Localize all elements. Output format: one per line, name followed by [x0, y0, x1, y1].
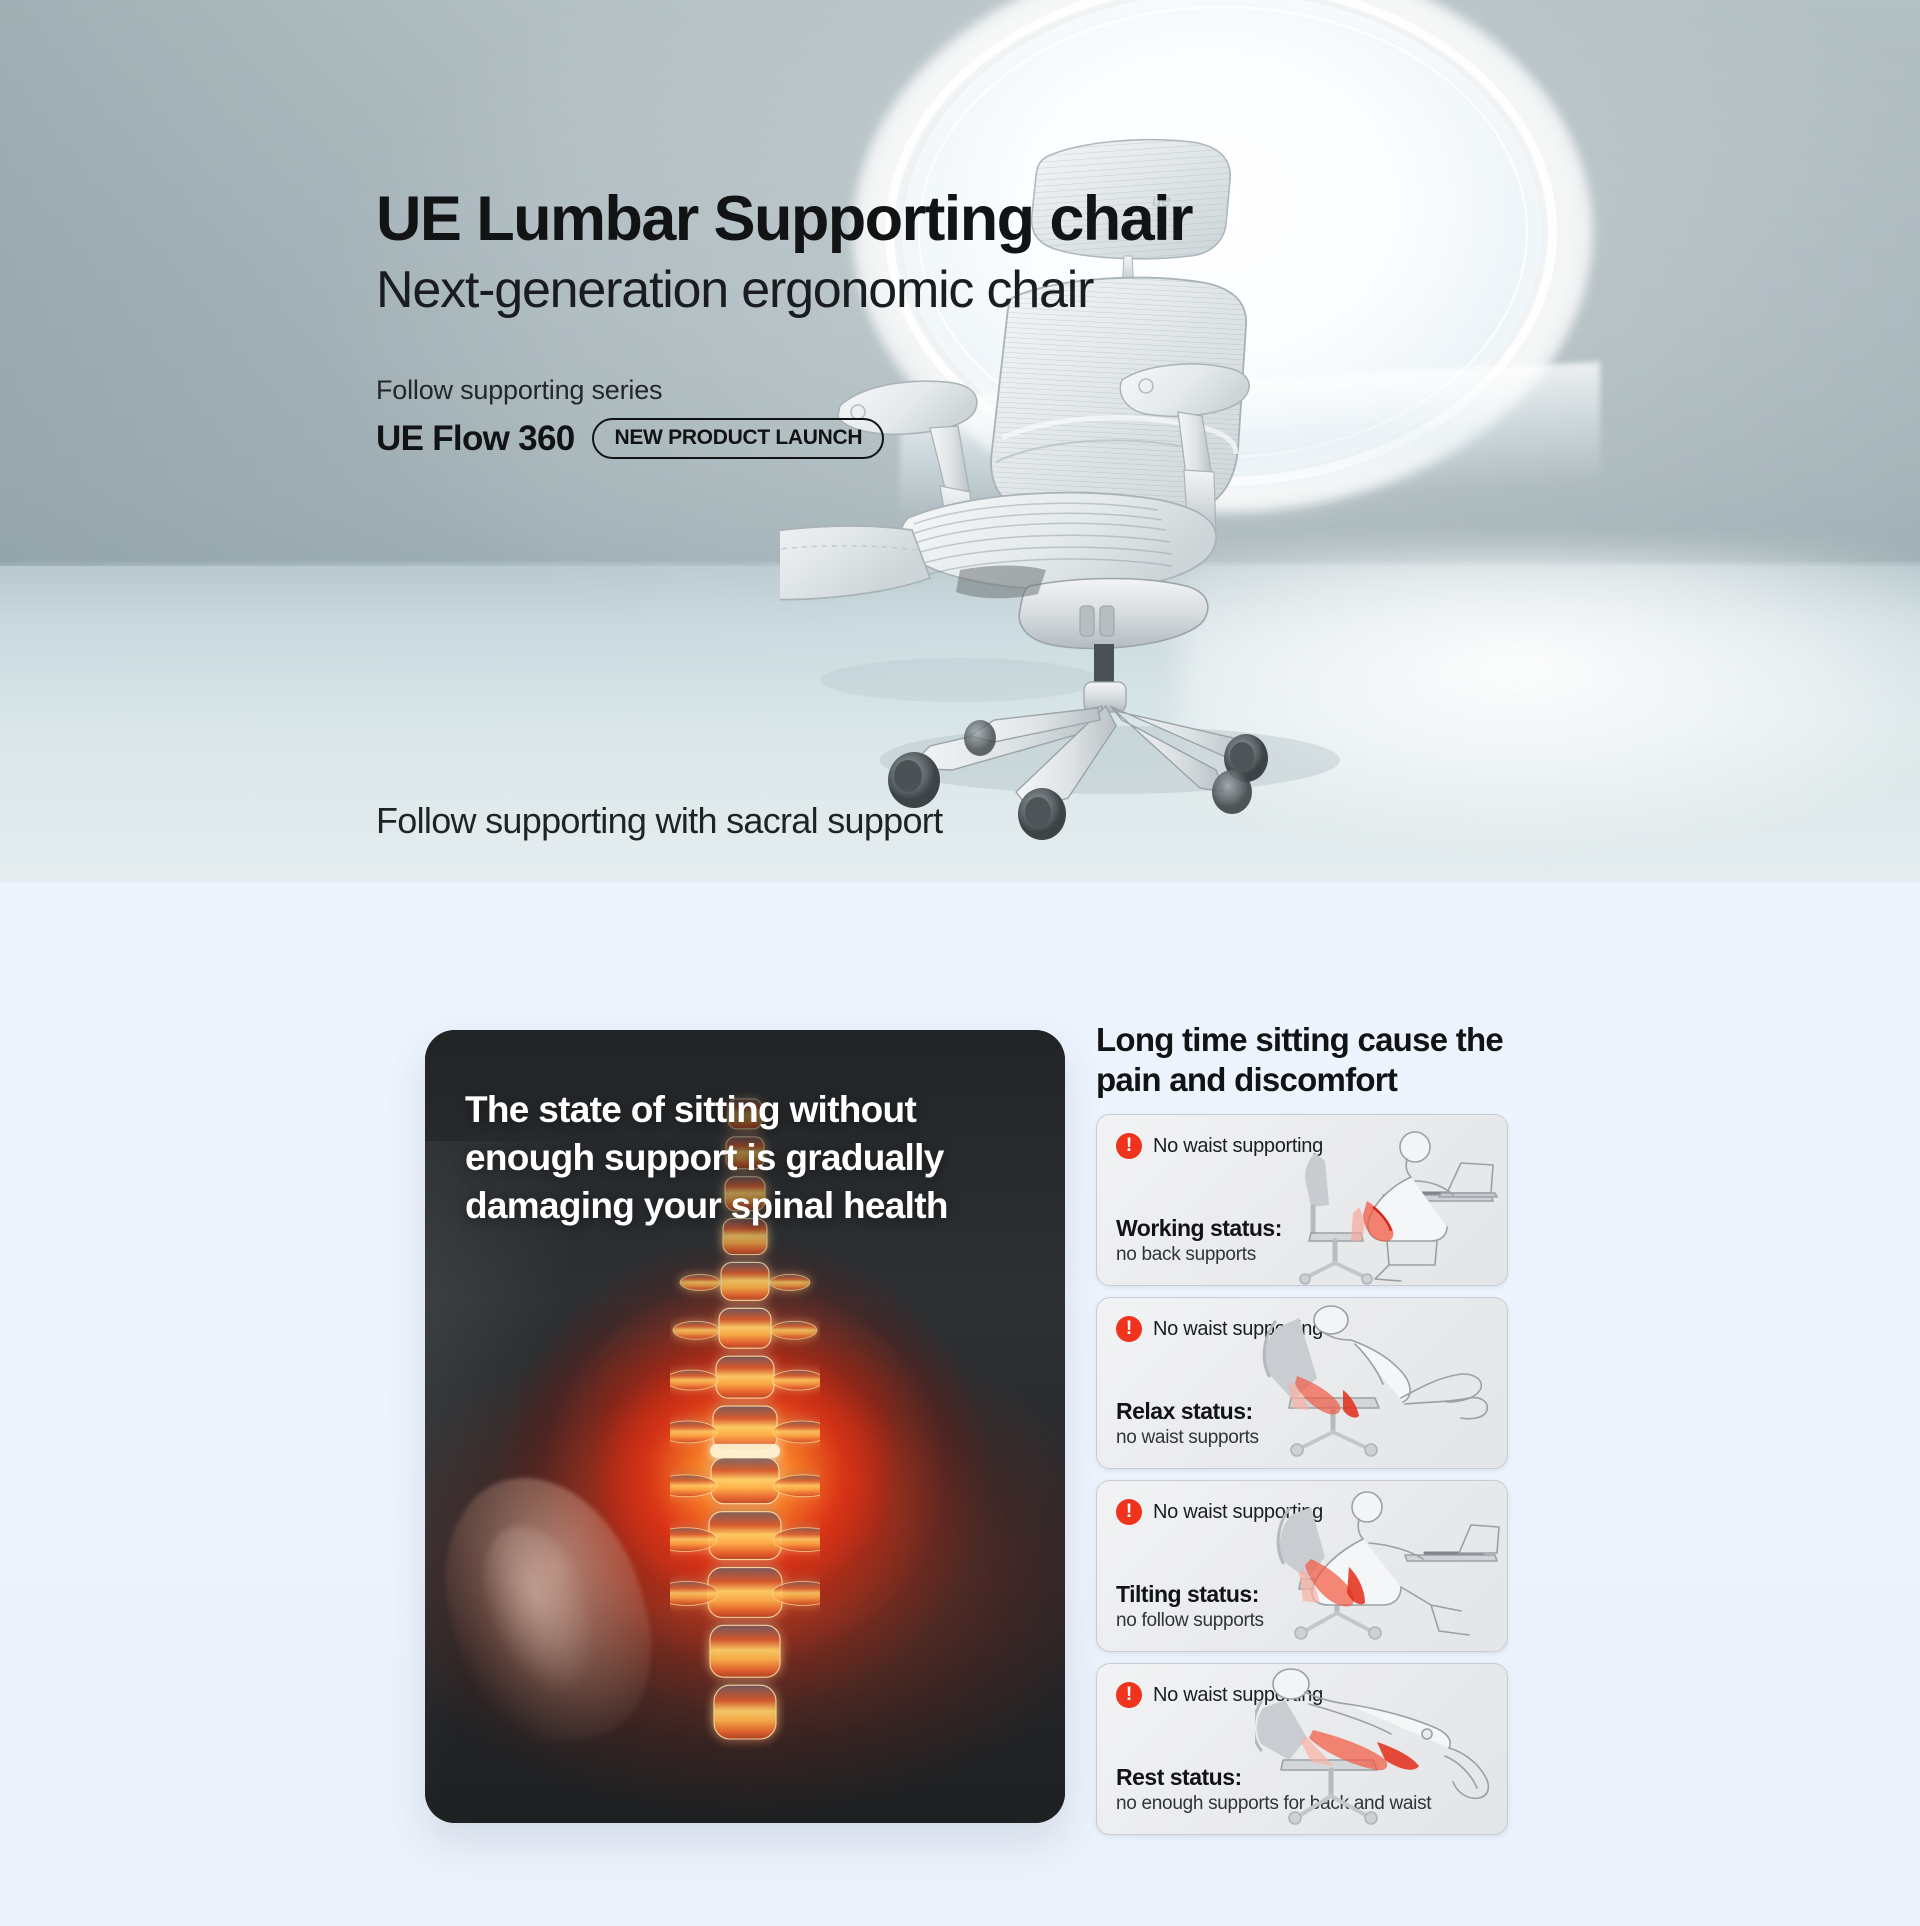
status-card-working[interactable]: ! No waist supporting Working status: no…: [1096, 1114, 1508, 1286]
hero-subtitle: Next-generation ergonomic chair: [376, 261, 1192, 319]
exclamation-circle-icon: !: [1116, 1682, 1142, 1708]
exclamation-circle-icon: !: [1116, 1499, 1142, 1525]
spinal-health-headline: The state of sitting without enough supp…: [465, 1086, 1029, 1230]
page-title: UE Lumbar Supporting chair: [376, 186, 1192, 253]
exclamation-glyph: !: [1126, 1319, 1132, 1338]
hero-model-row: UE Flow 360 NEW PRODUCT LAUNCH: [376, 418, 1192, 459]
exclamation-circle-icon: !: [1116, 1133, 1142, 1159]
status-card-tilting[interactable]: ! No waist supporting Tilting status: no…: [1096, 1480, 1508, 1652]
posture-figure-working: [1255, 1115, 1503, 1286]
status-card-relax[interactable]: ! No waist supporting Relax status: no w…: [1096, 1297, 1508, 1469]
card-status-title: Tilting status:: [1116, 1581, 1264, 1608]
hero-eyebrow: Follow supporting series: [376, 375, 1192, 406]
hero-banner: ue: [0, 0, 1920, 882]
exclamation-glyph: !: [1126, 1136, 1132, 1155]
exclamation-glyph: !: [1126, 1502, 1132, 1521]
hero-caption: Follow supporting with sacral support: [376, 800, 942, 842]
card-status-sub: no waist supports: [1116, 1427, 1259, 1450]
card-status-sub: no follow supports: [1116, 1610, 1264, 1633]
spinal-health-image-card: The state of sitting without enough supp…: [425, 1030, 1065, 1823]
posture-figure-tilting: [1255, 1481, 1503, 1652]
exclamation-glyph: !: [1126, 1685, 1132, 1704]
problem-heading: Long time sitting cause the pain and dis…: [1096, 1020, 1566, 1101]
new-product-launch-badge[interactable]: NEW PRODUCT LAUNCH: [592, 418, 884, 459]
posture-figure-relax: [1255, 1298, 1503, 1469]
status-card-list: ! No waist supporting Working status: no…: [1096, 1114, 1508, 1835]
hero-model-name: UE Flow 360: [376, 419, 574, 459]
status-card-rest[interactable]: ! No waist supporting Rest status: no en…: [1096, 1663, 1508, 1835]
problem-section: The state of sitting without enough supp…: [0, 882, 1920, 1926]
card-status-block: Relax status: no waist supports: [1116, 1398, 1259, 1450]
card-status-block: Tilting status: no follow supports: [1116, 1581, 1264, 1633]
posture-figure-rest: [1255, 1664, 1503, 1835]
card-status-title: Relax status:: [1116, 1398, 1259, 1425]
hero-copy: UE Lumbar Supporting chair Next-generati…: [376, 186, 1192, 459]
exclamation-circle-icon: !: [1116, 1316, 1142, 1342]
